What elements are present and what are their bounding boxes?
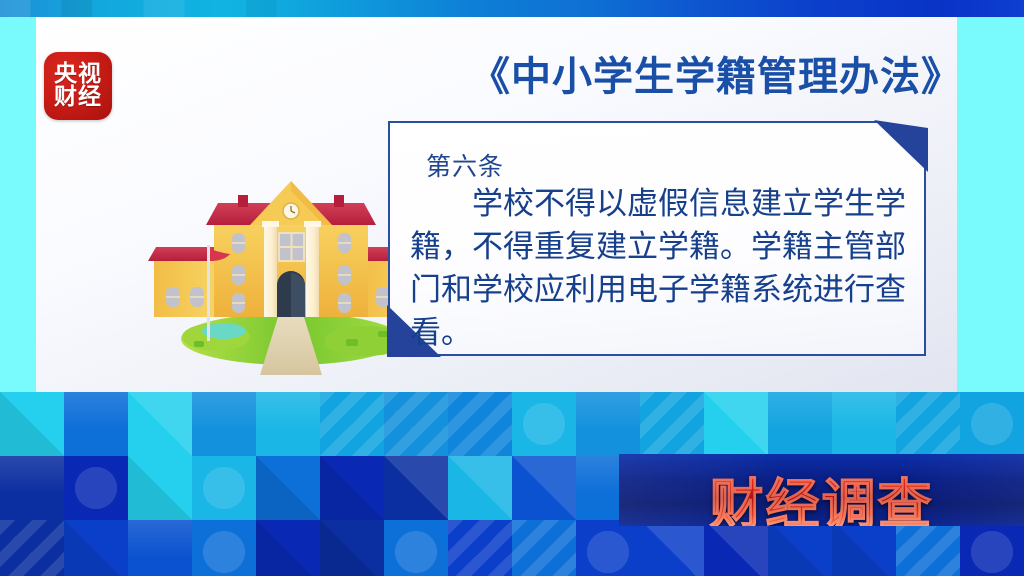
- mosaic-tile: [256, 456, 320, 520]
- mosaic-tile: [704, 392, 768, 456]
- mosaic-motif: [64, 456, 128, 520]
- mosaic-motif: [64, 520, 128, 576]
- mosaic-tile: [128, 520, 192, 576]
- mosaic-motif: [576, 392, 640, 456]
- mosaic-tile: [448, 520, 512, 576]
- mosaic-tile: [0, 520, 64, 576]
- logo-line-2: 财经: [54, 85, 102, 110]
- mosaic-tile: [192, 456, 256, 520]
- mosaic-tile: [384, 392, 448, 456]
- mosaic-tile: [256, 392, 320, 456]
- mosaic-tile: [0, 456, 64, 520]
- mosaic-motif: [256, 520, 320, 576]
- mosaic-motif: [128, 520, 192, 576]
- mosaic-tile: [896, 520, 960, 576]
- right-cyan-band: [957, 17, 1024, 392]
- mosaic-tile: [384, 520, 448, 576]
- article-body: 学校不得以虚假信息建立学生学籍，不得重复建立学籍。学籍主管部门和学校应利用电子学…: [410, 183, 906, 355]
- mosaic-tile: [448, 456, 512, 520]
- mosaic-tile: [832, 520, 896, 576]
- mosaic-tile: [704, 520, 768, 576]
- mosaic-motif: [512, 456, 576, 520]
- regulation-card: 第六条 学校不得以虚假信息建立学生学籍，不得重复建立学籍。学籍主管部门和学校应利…: [388, 121, 926, 356]
- mosaic-tile: [640, 392, 704, 456]
- mosaic-motif: [576, 520, 640, 576]
- mosaic-motif: [832, 520, 896, 576]
- mosaic-motif: [320, 520, 384, 576]
- mosaic-tile: [0, 392, 64, 456]
- left-cyan-band: [0, 17, 36, 392]
- mosaic-motif: [640, 520, 704, 576]
- mosaic-motif: [0, 456, 64, 520]
- mosaic-tile: [448, 392, 512, 456]
- mosaic-tile: [384, 456, 448, 520]
- mosaic-tile: [576, 520, 640, 576]
- mosaic-motif: [320, 456, 384, 520]
- mosaic-motif: [384, 520, 448, 576]
- mosaic-motif: [0, 392, 64, 456]
- show-title: 财经调查: [619, 460, 1024, 526]
- mosaic-tile: [960, 392, 1024, 456]
- mosaic-tile: [192, 392, 256, 456]
- mosaic-motif: [896, 520, 960, 576]
- mosaic-motif: [192, 456, 256, 520]
- mosaic-motif: [384, 392, 448, 456]
- mosaic-motif: [704, 520, 768, 576]
- mosaic-motif: [320, 392, 384, 456]
- mosaic-motif: [256, 456, 320, 520]
- mosaic-motif: [448, 392, 512, 456]
- mosaic-motif: [704, 392, 768, 456]
- mosaic-motif: [448, 456, 512, 520]
- mosaic-motif: [192, 392, 256, 456]
- mosaic-motif: [896, 392, 960, 456]
- mosaic-motif: [768, 392, 832, 456]
- mosaic-tile: [896, 392, 960, 456]
- mosaic-tile: [960, 520, 1024, 576]
- mosaic-tile: [128, 392, 192, 456]
- mosaic-motif: [960, 392, 1024, 456]
- mosaic-motif: [640, 392, 704, 456]
- mosaic-motif: [128, 392, 192, 456]
- mosaic-tile: [768, 520, 832, 576]
- mosaic-tile: [768, 392, 832, 456]
- mosaic-tile: [256, 520, 320, 576]
- mosaic-tile: [512, 392, 576, 456]
- page-title: 《中小学生学籍管理办法》: [470, 44, 940, 96]
- mosaic-motif: [0, 520, 64, 576]
- mosaic-tile: [512, 456, 576, 520]
- mosaic-tile: [192, 520, 256, 576]
- mosaic-tile: [320, 392, 384, 456]
- article-label: 第六条: [426, 147, 504, 183]
- mosaic-tile: [576, 392, 640, 456]
- mosaic-tile: [128, 456, 192, 520]
- mosaic-motif: [128, 456, 192, 520]
- mosaic-motif: [512, 392, 576, 456]
- mosaic-motif: [192, 520, 256, 576]
- mosaic-tile: [320, 520, 384, 576]
- mosaic-motif: [448, 520, 512, 576]
- mosaic-tile: [640, 520, 704, 576]
- mosaic-motif: [512, 520, 576, 576]
- mosaic-motif: [64, 392, 128, 456]
- mosaic-tile: [320, 456, 384, 520]
- mosaic-motif: [256, 392, 320, 456]
- mosaic-tile: [64, 520, 128, 576]
- mosaic-motif: [960, 520, 1024, 576]
- mosaic-tile: [512, 520, 576, 576]
- mosaic-motif: [768, 520, 832, 576]
- broadcast-graphic: 央视 财经 《中小学生学籍管理办法》 第六条 学校不得以虚假信息建立学生学籍，不…: [0, 0, 1024, 576]
- mosaic-tile: [64, 392, 128, 456]
- mosaic-motif: [384, 456, 448, 520]
- mosaic-tile: [832, 392, 896, 456]
- cctv-finance-logo: 央视 财经: [44, 52, 112, 120]
- mosaic-tile: [64, 456, 128, 520]
- mosaic-motif: [832, 392, 896, 456]
- show-title-banner: 财经调查: [619, 454, 1024, 526]
- top-gradient-strip: [0, 0, 1024, 17]
